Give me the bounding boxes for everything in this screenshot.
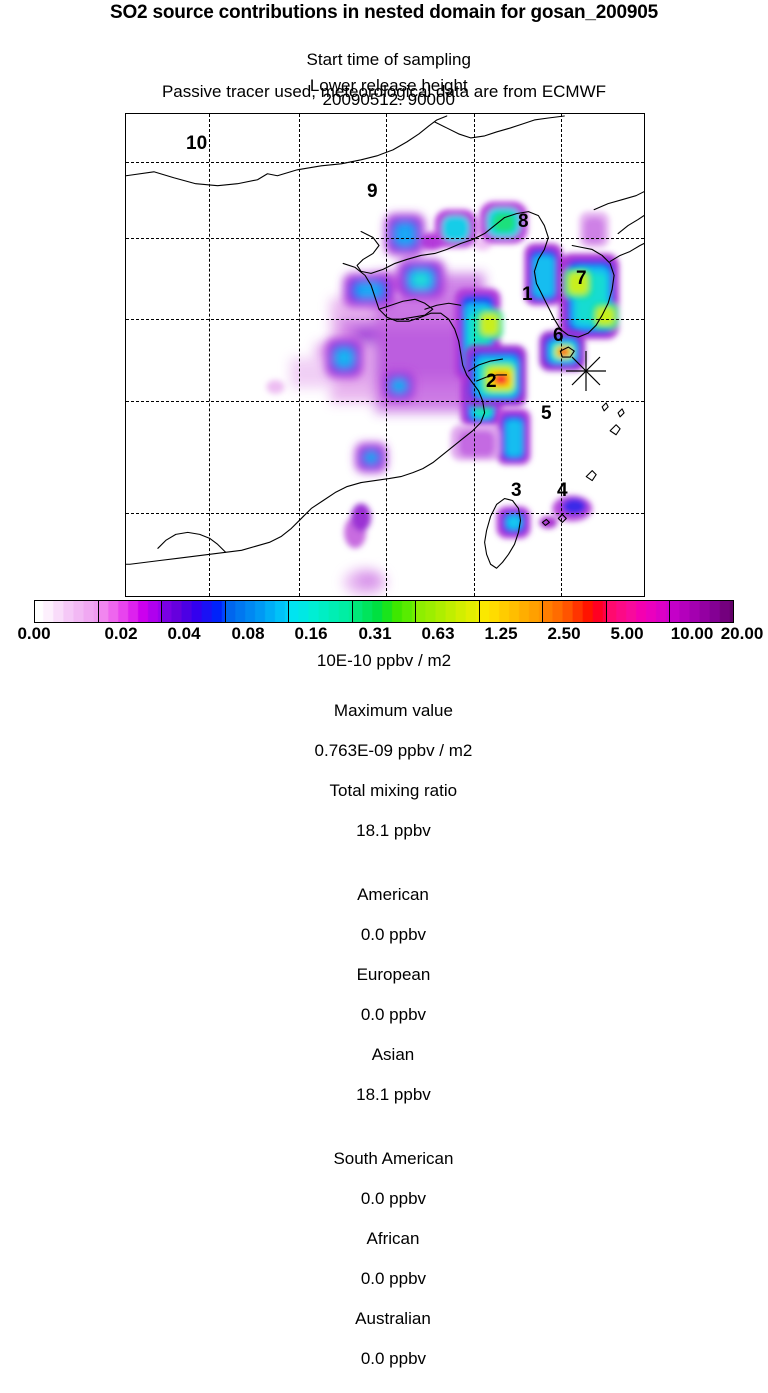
colorbar-tick: 0.31 bbox=[358, 624, 391, 644]
colorbar-tick: 0.16 bbox=[294, 624, 327, 644]
colorbar-segment bbox=[416, 601, 480, 622]
south-american-value: 0.0 ppbv bbox=[361, 1189, 426, 1208]
colorbar-tick-labels: 0.00 0.02 0.04 0.08 0.16 0.31 0.63 1.25 … bbox=[0, 624, 768, 644]
page-title: SO2 source contributions in nested domai… bbox=[0, 2, 768, 24]
colorbar-segment bbox=[35, 601, 99, 622]
gridline-horizontal bbox=[126, 401, 644, 402]
asian-value: 18.1 ppbv bbox=[356, 1085, 431, 1104]
colorbar-tick: 0.08 bbox=[231, 624, 264, 644]
total-mixing-ratio-label: Total mixing ratio bbox=[330, 781, 458, 800]
tracer-note: Passive tracer used, meteorological data… bbox=[0, 82, 768, 102]
colorbar-tick: 1.25 bbox=[484, 624, 517, 644]
european-value: 0.0 ppbv bbox=[361, 1005, 426, 1024]
region-label-6: 6 bbox=[553, 326, 564, 345]
colorbar-segment bbox=[670, 601, 733, 622]
african-label: African bbox=[367, 1229, 420, 1248]
region-label-7: 7 bbox=[576, 269, 587, 288]
maximum-value: 0.763E-09 ppbv / m2 bbox=[315, 741, 473, 760]
colorbar-segment bbox=[162, 601, 226, 622]
colorbar-tick: 10.00 bbox=[671, 624, 714, 644]
map-panel[interactable]: 10 9 8 1 7 6 2 5 3 4 bbox=[125, 113, 645, 597]
american-value: 0.0 ppbv bbox=[361, 925, 426, 944]
colorbar-unit-label: 10E-10 ppbv / m2 bbox=[0, 651, 768, 671]
release-site-star-icon bbox=[564, 349, 608, 393]
gridline-horizontal bbox=[126, 319, 644, 320]
south-american-label: South American bbox=[333, 1149, 453, 1168]
colorbar-tick: 2.50 bbox=[547, 624, 580, 644]
colorbar-tick: 0.02 bbox=[104, 624, 137, 644]
summary-footer: Maximum value 0.763E-09 ppbv / m2 Total … bbox=[0, 681, 768, 1393]
gridline-vertical bbox=[474, 114, 475, 596]
asian-label: Asian bbox=[372, 1045, 415, 1064]
gridline-vertical bbox=[299, 114, 300, 596]
gridline-vertical bbox=[209, 114, 210, 596]
colorbar-segment bbox=[353, 601, 417, 622]
region-label-3: 3 bbox=[511, 481, 522, 500]
colorbar-tick: 0.63 bbox=[421, 624, 454, 644]
colorbar-segment bbox=[480, 601, 544, 622]
colorbar-tick: 20.00 bbox=[721, 624, 764, 644]
colorbar-tick: 0.04 bbox=[167, 624, 200, 644]
gridline-horizontal bbox=[126, 238, 644, 239]
american-label: American bbox=[357, 885, 429, 904]
colorbar-segment bbox=[289, 601, 353, 622]
region-label-10: 10 bbox=[186, 134, 207, 153]
region-label-5: 5 bbox=[541, 404, 552, 423]
gridline-vertical bbox=[561, 114, 562, 596]
colorbar-segment bbox=[99, 601, 163, 622]
region-label-2: 2 bbox=[486, 372, 497, 391]
gridline-vertical bbox=[386, 114, 387, 596]
colorbar bbox=[34, 600, 734, 623]
european-label: European bbox=[357, 965, 431, 984]
african-value: 0.0 ppbv bbox=[361, 1269, 426, 1288]
region-label-8: 8 bbox=[518, 212, 529, 231]
summary-row-1: American 0.0 ppbv European 0.0 ppbv Asia… bbox=[0, 865, 768, 1125]
total-mixing-ratio-value: 18.1 ppbv bbox=[356, 821, 431, 840]
region-label-4: 4 bbox=[557, 481, 568, 500]
gridline-horizontal bbox=[126, 513, 644, 514]
region-label-9: 9 bbox=[367, 182, 378, 201]
gridline-horizontal bbox=[126, 162, 644, 163]
maximum-value-label: Maximum value bbox=[334, 701, 453, 720]
australian-value: 0.0 ppbv bbox=[361, 1349, 426, 1368]
australian-label: Australian bbox=[355, 1309, 431, 1328]
summary-row-max: Maximum value 0.763E-09 ppbv / m2 Total … bbox=[0, 681, 768, 861]
region-label-1: 1 bbox=[522, 285, 533, 304]
colorbar-segment bbox=[543, 601, 607, 622]
colorbar-segment bbox=[226, 601, 290, 622]
colorbar-tick: 5.00 bbox=[610, 624, 643, 644]
colorbar-tick: 0.00 bbox=[17, 624, 50, 644]
summary-row-2: South American 0.0 ppbv African 0.0 ppbv… bbox=[0, 1129, 768, 1389]
colorbar-segment bbox=[607, 601, 671, 622]
